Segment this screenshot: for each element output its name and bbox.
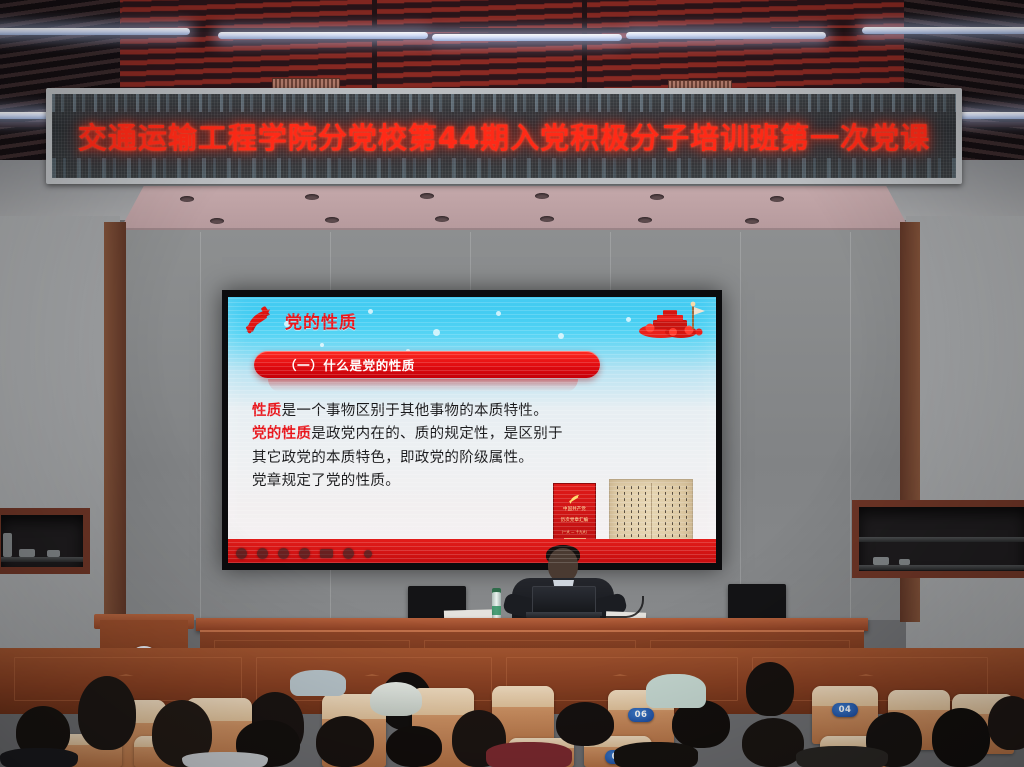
snow-dot bbox=[558, 333, 564, 339]
seat-headrest bbox=[492, 686, 554, 707]
pointer-icon[interactable] bbox=[278, 548, 289, 559]
audience-shoulders bbox=[182, 752, 268, 767]
tiananmen-red-graphic bbox=[637, 301, 709, 341]
slide-canvas: 党的性质 bbox=[228, 297, 716, 563]
more-icon[interactable] bbox=[364, 550, 372, 558]
document-column bbox=[672, 486, 673, 544]
book-subtitle: 历次党章汇编 bbox=[561, 518, 589, 524]
slide-body-text: 是一个事物区别于其他事物的本质特性。 bbox=[282, 403, 548, 419]
snow-dot bbox=[433, 329, 440, 336]
niche-object bbox=[899, 559, 910, 565]
pen-icon[interactable] bbox=[236, 548, 247, 559]
niche-shelf bbox=[859, 537, 1024, 542]
audience-head bbox=[556, 702, 614, 746]
highlighter-icon[interactable] bbox=[257, 548, 268, 559]
projection-screen: 党的性质 bbox=[222, 290, 722, 570]
document-column bbox=[645, 486, 646, 544]
audience-shoulders bbox=[486, 742, 572, 767]
audience-head bbox=[386, 726, 442, 767]
slide-body-text: 是政党内在的、质的规定性，是区别于 bbox=[311, 426, 563, 442]
dark-circle-icon[interactable] bbox=[343, 548, 354, 559]
hammer-and-sickle-icon bbox=[242, 305, 276, 336]
wall-seam bbox=[200, 232, 201, 618]
document-fold bbox=[651, 483, 652, 547]
book-note: （一大 — 十九大） bbox=[560, 530, 590, 535]
audience-shoulders bbox=[0, 748, 78, 767]
led-banner: 交通运输工程学院分党校第44期入党积极分子培训班第一次党课 bbox=[46, 88, 962, 184]
downlight bbox=[540, 216, 554, 222]
downlight bbox=[638, 217, 652, 223]
screen-icon[interactable] bbox=[320, 549, 333, 558]
downlight bbox=[435, 216, 449, 222]
downlight bbox=[420, 193, 434, 199]
document-column bbox=[631, 486, 632, 544]
led-banner-panel: 交通运输工程学院分党校第44期入党积极分子培训班第一次党课 bbox=[52, 94, 956, 178]
downlight bbox=[325, 217, 339, 223]
downlight bbox=[770, 196, 784, 202]
slide-title: 党的性质 bbox=[285, 308, 357, 333]
downlight bbox=[535, 193, 549, 199]
downlight bbox=[180, 196, 194, 202]
book-emblem-icon bbox=[568, 490, 581, 502]
document-column bbox=[638, 486, 639, 544]
niche-object bbox=[47, 550, 60, 557]
document-column bbox=[665, 486, 666, 544]
downlight bbox=[305, 194, 319, 200]
niche-shelf bbox=[1, 557, 83, 562]
led-banner-text: 交通运输工程学院分党校第44期入党积极分子培训班第一次党课 bbox=[78, 115, 930, 157]
auditorium-photo: 交通运输工程学院分党校第44期入党积极分子培训班第一次党课 bbox=[0, 0, 1024, 767]
wall-seam bbox=[470, 232, 471, 292]
wall-seam bbox=[610, 232, 611, 292]
audience-cap bbox=[370, 682, 422, 716]
audience-head bbox=[742, 718, 804, 767]
audience-shoulders bbox=[614, 742, 698, 767]
wall-seam bbox=[850, 232, 851, 618]
audience-head bbox=[932, 708, 990, 767]
ceiling-light-strip bbox=[432, 34, 622, 41]
ceiling-light-strip bbox=[626, 32, 826, 39]
audience-shoulders bbox=[646, 674, 706, 708]
downlight bbox=[745, 218, 759, 224]
book-title: 中国共产党 bbox=[563, 507, 586, 513]
slide-body-line: 其它政党的本质特色，即政党的阶级属性。 bbox=[252, 447, 692, 470]
slide-header: 党的性质 bbox=[242, 305, 357, 336]
slide-section-pill: （一）什么是党的性质 bbox=[254, 351, 600, 378]
snow-dot bbox=[496, 311, 501, 316]
soffit bbox=[120, 186, 910, 230]
right-monitor bbox=[728, 584, 786, 620]
niche-shelf bbox=[859, 565, 1024, 570]
snow-dot bbox=[626, 317, 631, 322]
wall-niche-right bbox=[852, 500, 1024, 578]
side-wall-right bbox=[906, 216, 1024, 686]
led-noise bbox=[52, 158, 956, 178]
pillar-left bbox=[104, 222, 126, 662]
slide-body-line: 性质是一个事物区别于其他事物的本质特性。 bbox=[252, 400, 692, 423]
seat-number-badge: 06 bbox=[628, 708, 654, 722]
slide-body-highlight: 性质 bbox=[252, 403, 282, 419]
magnifier-icon[interactable] bbox=[299, 548, 310, 559]
led-noise bbox=[52, 94, 956, 112]
niche-object bbox=[873, 557, 889, 565]
audience-head bbox=[316, 716, 374, 767]
audience-head bbox=[78, 676, 136, 750]
speaker-head bbox=[548, 548, 578, 582]
downlight bbox=[650, 194, 664, 200]
bottle-label bbox=[492, 606, 501, 615]
snow-dot bbox=[368, 309, 373, 314]
ceiling-light-strip bbox=[218, 32, 428, 39]
seat-headrest bbox=[888, 690, 950, 710]
audience-head bbox=[746, 662, 794, 716]
presentation-toolbar[interactable] bbox=[236, 548, 372, 559]
niche-object bbox=[3, 533, 12, 557]
slide-body-highlight: 党的性质 bbox=[252, 426, 311, 442]
pill-reflection bbox=[268, 379, 578, 392]
slide-section-label: （一）什么是党的性质 bbox=[284, 355, 415, 374]
slide-body-text: 其它政党的本质特色，即政党的阶级属性。 bbox=[252, 450, 533, 466]
audience-shoulders bbox=[290, 670, 346, 696]
book-cover-image: 中国共产党 历次党章汇编 （一大 — 十九大） bbox=[553, 483, 596, 546]
document-column bbox=[679, 486, 680, 544]
wall-seam bbox=[740, 232, 741, 618]
audience-shoulders bbox=[796, 746, 888, 767]
document-column bbox=[617, 486, 618, 544]
seat-number-badge: 04 bbox=[832, 703, 858, 717]
document-column bbox=[658, 486, 659, 544]
downlight bbox=[210, 218, 224, 224]
slide-body-text: 党章规定了党的性质。 bbox=[252, 473, 400, 489]
wall-niche-left bbox=[0, 508, 90, 574]
ceiling-light-strip bbox=[862, 27, 1024, 34]
ceiling-light-strip bbox=[0, 28, 190, 35]
document-column bbox=[686, 486, 687, 544]
audience-head bbox=[988, 696, 1024, 750]
niche-object bbox=[19, 549, 35, 557]
slide-body-line: 党的性质是政党内在的、质的规定性，是区别于 bbox=[252, 423, 692, 446]
snow-dot bbox=[320, 343, 324, 347]
laptop-screen bbox=[532, 586, 596, 613]
document-column bbox=[624, 486, 625, 544]
